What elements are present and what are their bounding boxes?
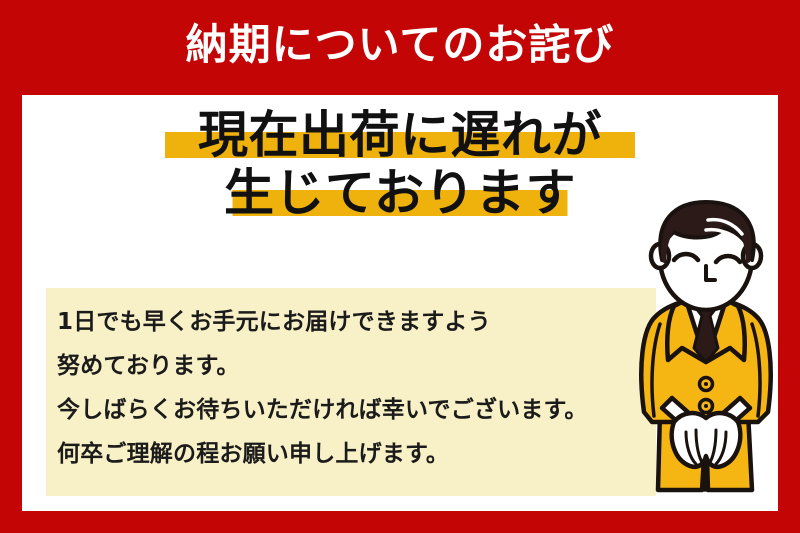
clasped-hands bbox=[672, 413, 741, 467]
headline-line-1: 現在出荷に遅れが bbox=[22, 106, 778, 164]
page-title: 納期についてのお詫び bbox=[0, 0, 800, 95]
body-line: 努めております。 bbox=[57, 344, 657, 388]
body-line: 1日でも早くお手元にお届けできますよう bbox=[57, 300, 657, 344]
bowing-businessman-illustration bbox=[612, 198, 800, 514]
red-border-left bbox=[0, 95, 22, 511]
body-line: 何卒ご理解の程お願い申し上げます。 bbox=[57, 432, 657, 476]
apology-notice-poster: 納期についてのお詫び 現在出荷に遅れが 生じております 1日でも早くお手元にお届… bbox=[0, 0, 800, 533]
body-text-block: 1日でも早くお手元にお届けできますよう 努めております。 今しばらくお待ちいただ… bbox=[57, 300, 657, 476]
headline-line-1-text: 現在出荷に遅れが bbox=[198, 106, 602, 164]
body-line: 今しばらくお待ちいただければ幸いでございます。 bbox=[57, 388, 657, 432]
headline-line-2-text: 生じております bbox=[224, 164, 576, 222]
red-border-bottom bbox=[0, 511, 800, 533]
